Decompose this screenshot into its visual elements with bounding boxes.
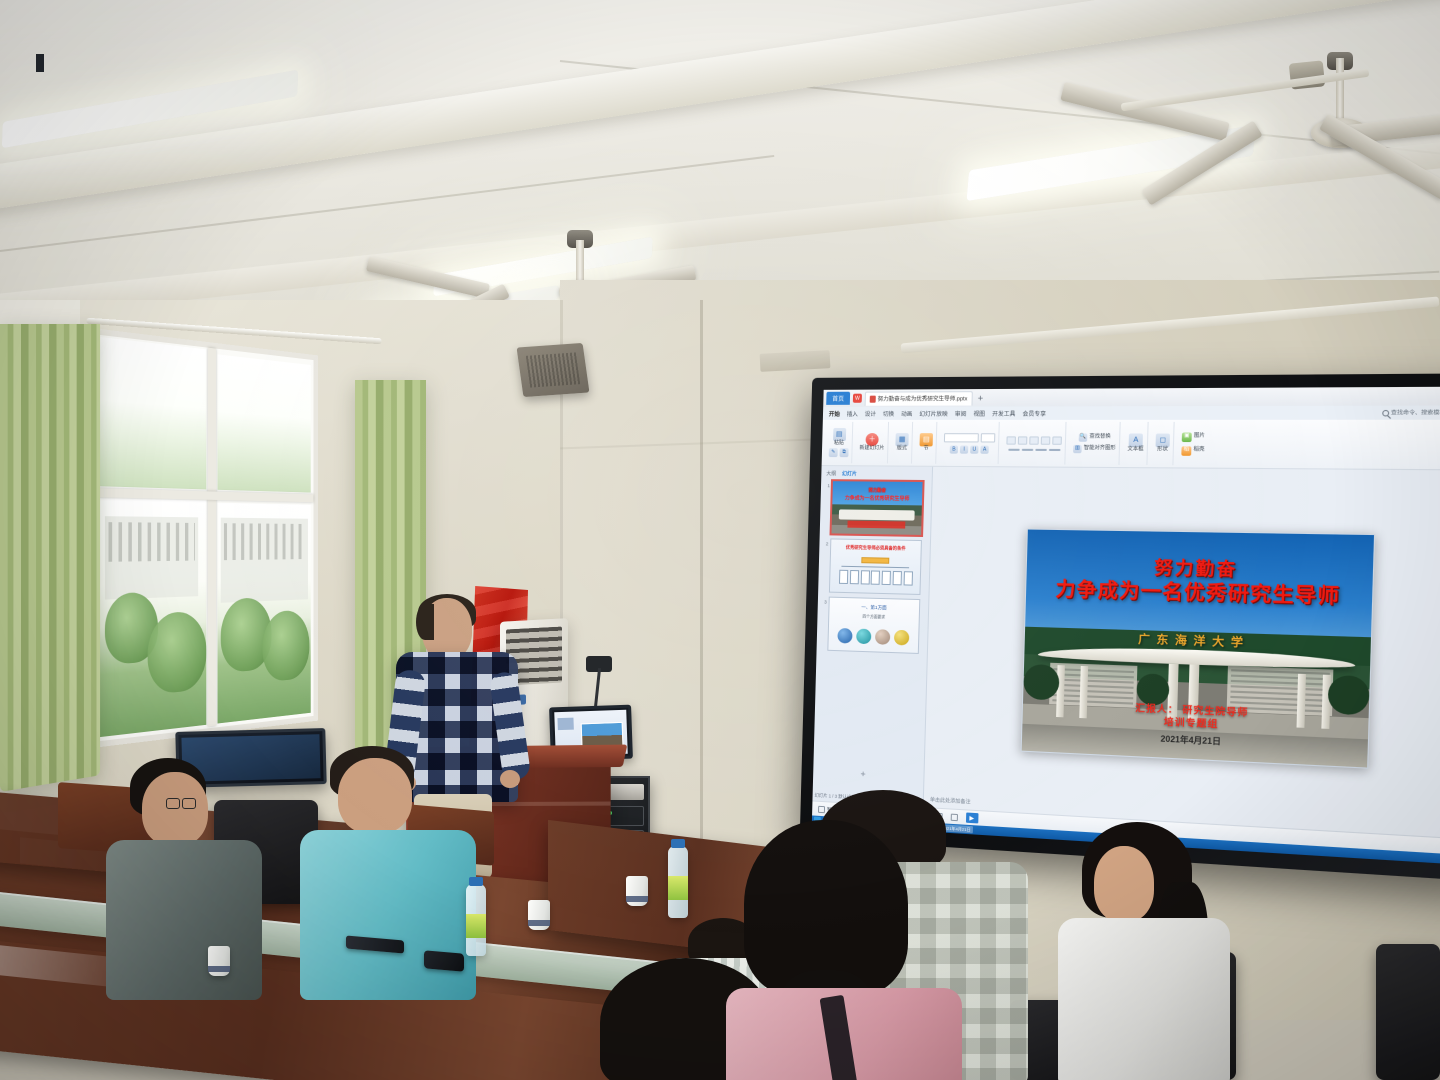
paper-cup: [626, 876, 648, 906]
ribbon-group-slide: ＋ 新建幻灯片: [856, 422, 889, 464]
indent-increase-icon[interactable]: [1041, 436, 1051, 444]
audience-2-polo: [300, 830, 476, 1000]
water-bottle: [466, 884, 486, 956]
search-placeholder: 查找命令、搜索模板: [1391, 409, 1440, 417]
audience-member-4: [718, 820, 968, 1080]
font-color-icon[interactable]: A: [980, 445, 988, 453]
line-spacing-icon[interactable]: [1052, 436, 1062, 444]
window: [92, 328, 318, 748]
window-pane: [218, 503, 311, 724]
ribbon-group-shape: ◻ 形状: [1152, 422, 1175, 465]
slides-tab[interactable]: 幻灯片: [842, 470, 857, 477]
thumbnail-1[interactable]: 努力勤奋 力争成为一名优秀研究生导师: [831, 480, 924, 536]
thumbnail-1-gate-photo: [832, 504, 922, 535]
chair: [1376, 944, 1440, 1080]
thumbnail-number: 2: [823, 538, 828, 546]
thumbnail-2-node: [850, 570, 859, 584]
outline-tab[interactable]: 大纲: [826, 470, 836, 477]
audience-2-head: [338, 758, 412, 834]
ribbon-tab-design[interactable]: 设计: [865, 409, 876, 417]
fan-rod: [1336, 58, 1344, 124]
textbox-button[interactable]: A 文本框: [1127, 434, 1144, 454]
underline-icon[interactable]: U: [970, 445, 978, 453]
car-keys: [424, 950, 464, 971]
bold-icon[interactable]: B: [950, 445, 958, 453]
bottle-cap: [671, 839, 685, 848]
bottle-label: [668, 876, 688, 900]
layout-button[interactable]: ▦ 版式: [895, 433, 909, 452]
wps-titlebar: 首页 W 努力勤奋与成为优秀研究生导师.pptx + — □ ✕: [823, 387, 1440, 407]
window-view-tree: [148, 611, 207, 695]
indent-decrease-icon[interactable]: [1029, 436, 1039, 444]
picture-icon: ▣: [1182, 432, 1192, 442]
seminar-room-photo: 首页 W 努力勤奋与成为优秀研究生导师.pptx + — □ ✕ 开始 插入 设…: [0, 0, 1440, 1080]
thumbnail-number: 1: [825, 480, 830, 488]
add-slide-button[interactable]: +: [860, 769, 865, 779]
slide-thumbnail-panel[interactable]: 大纲 幻灯片 1 努力勤奋 力争成为一名优秀研究生导师: [812, 466, 933, 807]
ribbon-group-layout: ▦ 版式: [892, 422, 913, 464]
font-size-select[interactable]: [981, 433, 996, 442]
fan-rod: [576, 240, 584, 284]
window-mullion: [208, 348, 216, 727]
new-tab-button[interactable]: +: [978, 393, 984, 403]
format-painter-icon[interactable]: ✎: [829, 448, 838, 457]
new-slide-button[interactable]: ＋ 新建幻灯片: [859, 433, 884, 452]
paste-label: 粘贴: [834, 441, 844, 447]
thumbnail-number: 3: [822, 596, 827, 604]
font-name-select[interactable]: [944, 433, 979, 442]
thumbnail-1-title2: 力争成为一名优秀研究生导师: [845, 494, 910, 502]
find-icon: 🔍: [1079, 433, 1088, 441]
document-tab[interactable]: 努力勤奋与成为优秀研究生导师.pptx: [865, 391, 973, 406]
picture-button[interactable]: ▣ 图片: [1182, 432, 1205, 442]
search-box[interactable]: 查找命令、搜索模板: [1382, 409, 1440, 417]
document-tab-label: 努力勤奋与成为优秀研究生导师.pptx: [878, 394, 968, 402]
wps-logo-icon: W: [853, 394, 862, 403]
curtain-left[interactable]: [0, 324, 100, 792]
thumbnail-item[interactable]: 2 优秀研究生导师必须具备的条件: [818, 536, 930, 597]
presenter-hair-side: [416, 604, 434, 640]
ribbon-tab-transition[interactable]: 切换: [883, 409, 894, 417]
numbering-icon[interactable]: [1018, 436, 1028, 444]
thumbnail-1-title1: 努力勤奋: [868, 488, 886, 494]
pptx-file-icon: [870, 395, 876, 402]
ribbon-group-textbox: A 文本框: [1124, 422, 1149, 465]
textbox-label: 文本框: [1127, 447, 1143, 453]
find-label: 查找替换: [1089, 435, 1110, 441]
text-direction-icon[interactable]: [1048, 448, 1060, 450]
docer-button[interactable]: 稻 稻壳: [1181, 446, 1204, 456]
thumbnail-2-node: [893, 571, 902, 585]
bullets-icon[interactable]: [1006, 436, 1016, 444]
ribbon-tab-review[interactable]: 审阅: [955, 409, 967, 417]
ribbon-tab-animation[interactable]: 动画: [901, 409, 912, 417]
shape-label: 形状: [1157, 447, 1168, 453]
ribbon-tab-strip[interactable]: 开始 插入 设计 切换 动画 幻灯片放映 审阅 视图 开发工具 会员专享 查找命…: [823, 405, 1440, 420]
smart-align-label: 智能对齐图形: [1084, 446, 1116, 452]
ribbon-group-clipboard: ▤ 粘贴 ✎ ⧉: [826, 422, 854, 463]
section-label: 节: [923, 447, 928, 453]
paper-cup: [528, 900, 550, 930]
thumbnail-2-title: 优秀研究生导师必须具备的条件: [846, 545, 906, 552]
shape-button[interactable]: ◻ 形状: [1155, 434, 1170, 454]
ribbon-group-picture: ▣ 图片 稻 稻壳: [1178, 422, 1209, 466]
ribbon-tab-member[interactable]: 会员专享: [1023, 409, 1047, 417]
audience-member-1: [106, 758, 266, 998]
docer-icon: 稻: [1181, 446, 1191, 456]
window-pane: [218, 354, 311, 492]
current-slide[interactable]: 努力勤奋 力争成为一名优秀研究生导师: [1021, 528, 1376, 768]
ribbon-tab-devtools[interactable]: 开发工具: [992, 409, 1015, 417]
window-view-tree: [263, 610, 310, 683]
ribbon-group-font: B I U A: [940, 422, 1000, 464]
thumbnail-2-root-node: [861, 557, 890, 564]
ribbon-group-editing: 🔍 查找替换 ▥ 智能对齐图形: [1070, 422, 1121, 465]
layout-label: 版式: [897, 446, 907, 452]
thumbnail-2-node: [839, 570, 848, 584]
audience-member-5: [1052, 822, 1242, 1080]
home-tab[interactable]: 首页: [826, 392, 850, 405]
new-slide-label: 新建幻灯片: [859, 446, 884, 452]
thumbnail-3-sphere: [875, 629, 890, 645]
monitor-stand: [36, 54, 44, 72]
align-center-icon[interactable]: [1021, 448, 1033, 450]
wall-speaker: [517, 343, 590, 397]
picture-label: 图片: [1194, 434, 1205, 440]
find-replace-button[interactable]: 🔍 查找替换: [1079, 433, 1111, 441]
thumbnail-3-title: 一、第1方面: [861, 605, 887, 612]
presenter-hand-right: [500, 770, 520, 788]
thumbnail-item[interactable]: 1 努力勤奋 力争成为一名优秀研究生导师: [820, 478, 932, 538]
paste-button[interactable]: ▤ 粘贴: [832, 428, 845, 447]
copy-icon[interactable]: ⧉: [840, 448, 849, 457]
smart-align-icon: ▥: [1073, 445, 1082, 453]
audience-5-head: [1094, 846, 1154, 922]
section-button[interactable]: ▤ 节: [919, 433, 933, 452]
ribbon-tab-start[interactable]: 开始: [829, 409, 840, 417]
audience-1-shirt: [106, 840, 262, 1000]
smart-align-button[interactable]: ▥ 智能对齐图形: [1073, 445, 1116, 454]
ribbon-tab-view[interactable]: 视图: [973, 409, 985, 417]
thumbnail-2-node: [871, 570, 880, 584]
ribbon-tab-slideshow[interactable]: 幻灯片放映: [919, 409, 948, 417]
audience-5-top: [1058, 918, 1230, 1080]
docer-label: 稻壳: [1193, 448, 1204, 454]
ribbon-tab-insert[interactable]: 插入: [847, 409, 858, 417]
water-bottle: [668, 846, 688, 918]
ribbon[interactable]: ▤ 粘贴 ✎ ⧉ ＋ 新建幻灯片 ▦: [822, 420, 1440, 471]
thumbnail-3-sphere: [894, 630, 909, 646]
confidence-monitor-panel: [557, 718, 573, 731]
window-pane: [99, 498, 206, 737]
thumbnail-2-node: [903, 571, 912, 585]
align-right-icon[interactable]: [1035, 448, 1047, 450]
ribbon-group-section: ▤ 节: [916, 422, 937, 464]
window-view-building: [221, 518, 308, 603]
bottle-label: [466, 914, 486, 938]
thumbnail-3[interactable]: 一、第1方面 四个方面要求: [827, 597, 920, 654]
ribbon-group-paragraph: [1003, 422, 1067, 465]
align-left-icon[interactable]: [1008, 448, 1019, 450]
bottle-cap: [469, 877, 483, 886]
slide-stage[interactable]: 努力勤奋 力争成为一名优秀研究生导师: [924, 467, 1440, 839]
window-pane: [99, 337, 206, 490]
editor-body: 大纲 幻灯片 1 努力勤奋 力争成为一名优秀研究生导师: [812, 466, 1440, 839]
glasses-icon: [166, 798, 196, 807]
window-view-building: [105, 516, 198, 599]
window-area: [0, 318, 420, 788]
thumbnail-2[interactable]: 优秀研究生导师必须具备的条件: [829, 538, 922, 595]
wall-seam: [700, 300, 703, 860]
italic-icon[interactable]: I: [960, 445, 968, 453]
paper-cup: [208, 946, 230, 976]
thumbnail-item[interactable]: 3 一、第1方面 四个方面要求: [817, 594, 929, 656]
search-icon: [1382, 409, 1389, 416]
thumbnail-3-subtitle: 四个方面要求: [862, 615, 885, 621]
thumbnail-2-node: [882, 571, 891, 585]
wall-vent: [760, 350, 831, 372]
thumbnail-2-node: [860, 570, 869, 584]
thumbnail-1-caption: [848, 520, 906, 528]
audience-1-head: [142, 772, 208, 846]
